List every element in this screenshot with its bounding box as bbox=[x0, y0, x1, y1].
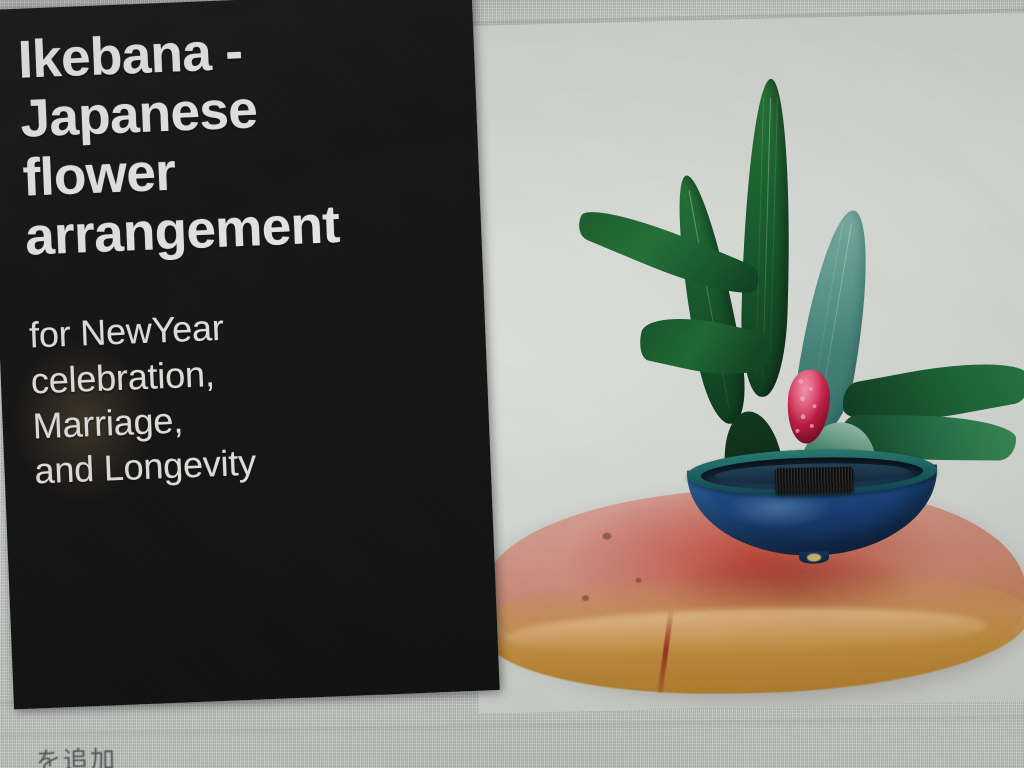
title-line-3: flower bbox=[22, 143, 177, 208]
kenzan-pin-holder bbox=[775, 467, 854, 495]
flower-speckle bbox=[812, 404, 816, 408]
title-line-1: Ikebana - bbox=[17, 22, 244, 90]
flower-speckle bbox=[810, 424, 814, 428]
page-title: Ikebana - Japanese flower arrangement bbox=[17, 14, 456, 267]
screen-bottom-strip: を追加 bbox=[0, 698, 1024, 768]
flower-speckle bbox=[795, 429, 799, 433]
flower-speckle bbox=[809, 387, 813, 391]
flower-speckle bbox=[800, 414, 805, 419]
bottom-caption-text: を追加 bbox=[36, 740, 118, 768]
subtitle-line-1: for NewYear bbox=[28, 307, 224, 356]
slide-title-panel: Ikebana - Japanese flower arrangement fo… bbox=[0, 0, 500, 709]
subtitle-line-2: celebration, bbox=[30, 353, 215, 401]
title-line-4: arrangement bbox=[24, 195, 341, 267]
title-line-2: Japanese bbox=[19, 80, 258, 148]
flower-speckle bbox=[800, 396, 805, 401]
flower-speckle bbox=[798, 379, 803, 384]
subtitle-line-3: Marriage, bbox=[32, 400, 184, 447]
screen-photo-frame: Ikebana - Japanese flower arrangement fo… bbox=[0, 0, 1024, 768]
ikebana-photo bbox=[462, 12, 1024, 714]
slide-text-block: Ikebana - Japanese flower arrangement fo… bbox=[17, 14, 473, 699]
subtitle-line-4: and Longevity bbox=[34, 442, 257, 492]
suiban-bowl bbox=[686, 447, 939, 563]
slide-subtitle: for NewYear celebration, Marriage, and L… bbox=[28, 296, 465, 495]
